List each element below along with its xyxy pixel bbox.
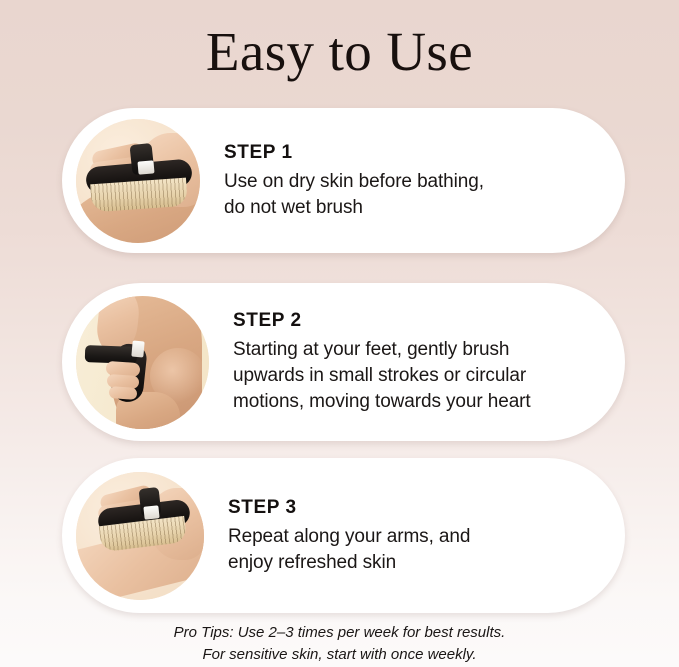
step-2-label: STEP 2	[233, 309, 607, 332]
page-title: Easy to Use	[0, 22, 679, 82]
brush-tag	[143, 505, 159, 519]
step-2-photo-scene	[76, 296, 209, 429]
step-2-photo	[76, 296, 209, 429]
step-3-text: STEP 3 Repeat along your arms, and enjoy…	[204, 496, 625, 576]
step-3-photo	[76, 472, 204, 600]
finger	[109, 386, 138, 400]
step-3-photo-scene	[76, 472, 204, 600]
step-3-description: Repeat along your arms, and enjoy refres…	[228, 524, 607, 576]
step-3-label: STEP 3	[228, 496, 607, 519]
brush-tag	[137, 160, 154, 174]
infographic-page: Easy to Use	[0, 0, 679, 667]
step-1-text: STEP 1 Use on dry skin before bathing, d…	[200, 141, 625, 221]
step-1-photo	[76, 119, 200, 243]
step-card-2: STEP 2 Starting at your feet, gently bru…	[62, 283, 625, 441]
step-1-label: STEP 1	[224, 141, 607, 164]
step-1-photo-scene	[76, 119, 200, 243]
pro-tips-footer: Pro Tips: Use 2–3 times per week for bes…	[0, 622, 679, 666]
step-card-3: STEP 3 Repeat along your arms, and enjoy…	[62, 458, 625, 613]
step-2-text: STEP 2 Starting at your feet, gently bru…	[209, 309, 625, 415]
bristle-texture	[90, 177, 188, 212]
step-card-1: STEP 1 Use on dry skin before bathing, d…	[62, 108, 625, 253]
step-1-description: Use on dry skin before bathing, do not w…	[224, 169, 607, 221]
step-2-description: Starting at your feet, gently brush upwa…	[233, 337, 607, 415]
brush-tag	[131, 340, 144, 357]
